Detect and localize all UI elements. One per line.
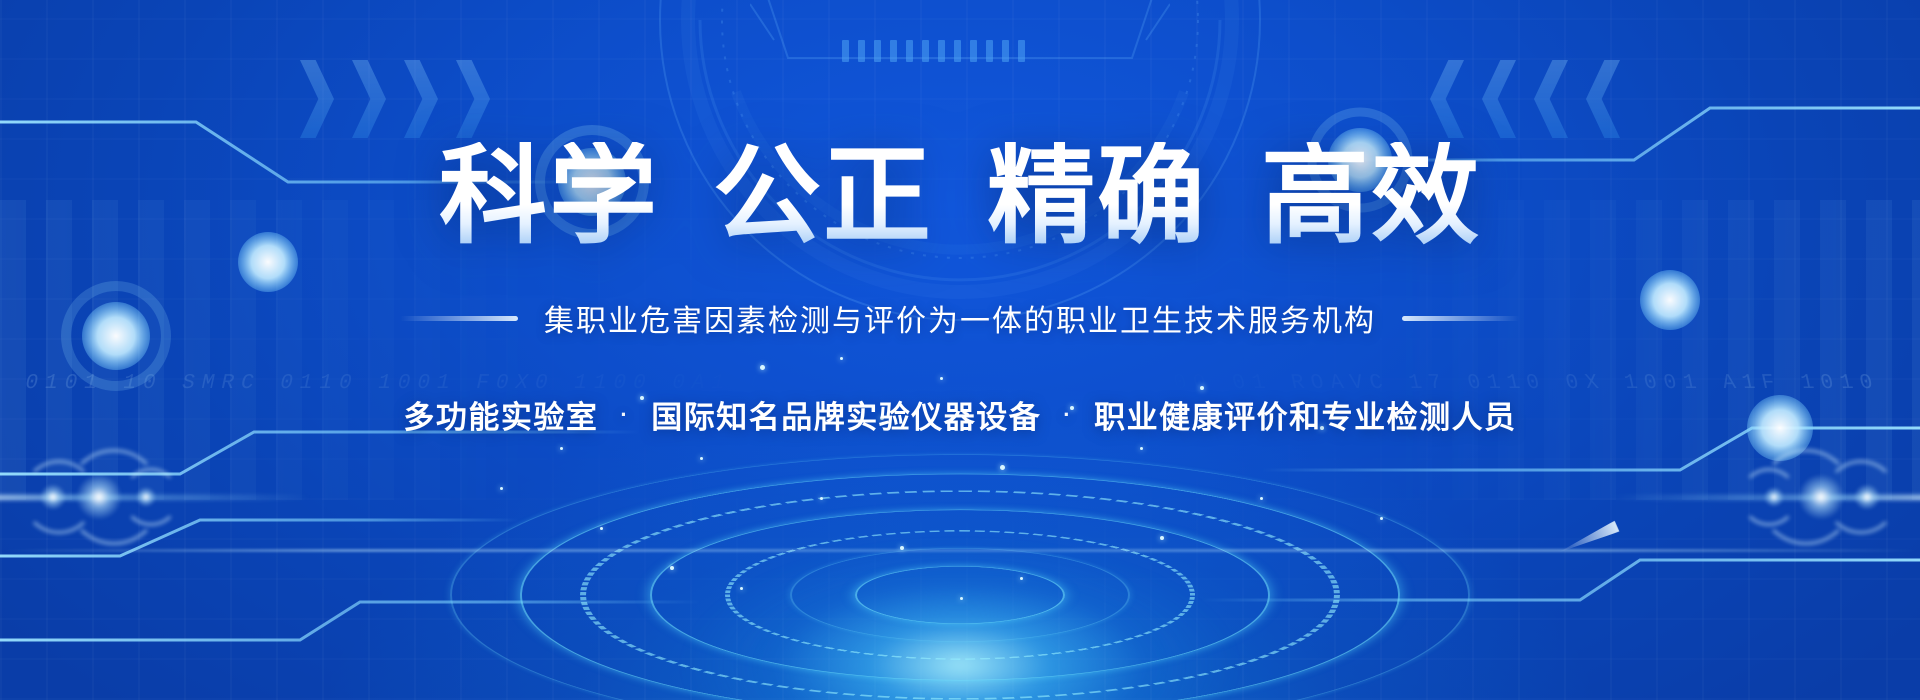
headline: 科学公正精确高效 bbox=[439, 142, 1481, 250]
tagline-item-2: 国际知名品牌实验仪器设备 bbox=[651, 392, 1041, 437]
headline-word-1: 科学 bbox=[439, 142, 659, 250]
headline-word-4: 高效 bbox=[1261, 142, 1481, 250]
banner-content: 科学公正精确高效 集职业危害因素检测与评价为一体的职业卫生技术服务机构 多功能实… bbox=[0, 0, 1920, 700]
subtitle-row: 集职业危害因素检测与评价为一体的职业卫生技术服务机构 bbox=[400, 296, 1520, 340]
divider-right bbox=[1402, 316, 1520, 321]
headline-word-3: 精确 bbox=[987, 142, 1207, 250]
tagline: 多功能实验室 · 国际知名品牌实验仪器设备 · 职业健康评价和专业检测人员 bbox=[403, 392, 1516, 437]
divider-left bbox=[400, 316, 518, 321]
headline-word-2: 公正 bbox=[713, 142, 933, 250]
promo-banner: 0101 10 SMRC 0110 1001 F0X0 1100 0A1 001… bbox=[0, 0, 1920, 700]
tagline-separator: · bbox=[1041, 402, 1094, 428]
tagline-separator: · bbox=[598, 402, 651, 428]
tagline-item-3: 职业健康评价和专业检测人员 bbox=[1094, 392, 1517, 437]
subtitle: 集职业危害因素检测与评价为一体的职业卫生技术服务机构 bbox=[544, 296, 1376, 340]
tagline-item-1: 多功能实验室 bbox=[403, 392, 598, 437]
